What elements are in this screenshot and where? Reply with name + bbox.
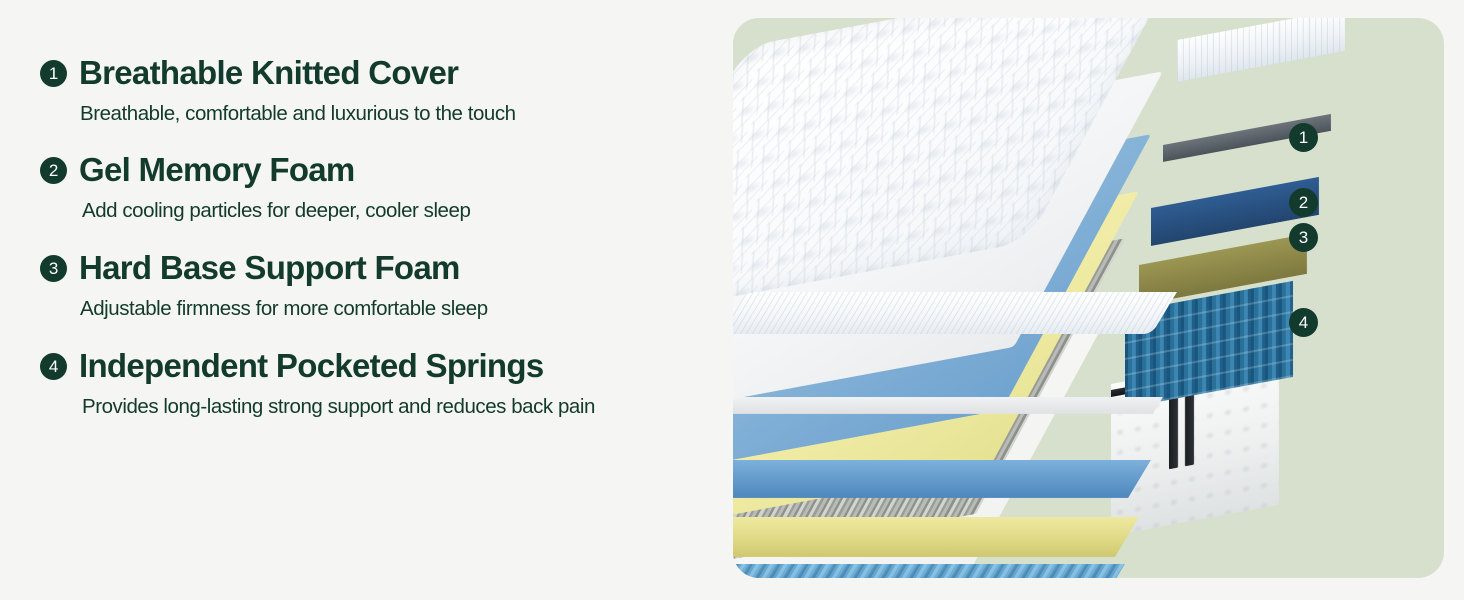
feature-number-badge-1: 1 [40,60,67,87]
cover-top-face [733,18,1177,322]
feature-heading-row: 2 Gel Memory Foam [40,149,720,191]
springs-front-face [733,564,1125,578]
feature-heading-row: 4 Independent Pocketed Springs [40,345,720,387]
feature-heading-row: 1 Breathable Knitted Cover [40,52,720,94]
features-column: 1 Breathable Knitted Cover Breathable, c… [0,0,720,600]
feature-title-3: Hard Base Support Foam [79,249,460,287]
feature-title-2: Gel Memory Foam [79,151,355,189]
feature-description-2: Add cooling particles for deeper, cooler… [82,198,720,224]
callout-badge-3: 3 [1289,223,1318,252]
cover-front-face [733,292,1177,334]
mattress-image-panel: 1 2 3 4 [733,18,1444,578]
callout-badge-4: 4 [1289,308,1318,337]
feature-title-1: Breathable Knitted Cover [79,54,458,92]
base-handle-strap [1169,394,1178,470]
feature-item-hard-base-support-foam: 3 Hard Base Support Foam Adjustable firm… [40,247,720,322]
base-handle-strap [1185,391,1194,467]
feature-item-knitted-cover: 1 Breathable Knitted Cover Breathable, c… [40,52,720,127]
mattress-layers-infographic: 1 Breathable Knitted Cover Breathable, c… [0,0,1464,600]
feature-item-gel-memory-foam: 2 Gel Memory Foam Add cooling particles … [40,149,720,224]
feature-number-badge-2: 2 [40,157,67,184]
gel-foam-front-face [733,460,1151,498]
callout-badge-2: 2 [1289,188,1318,217]
feature-description-3: Adjustable firmness for more comfortable… [80,296,720,322]
feature-heading-row: 3 Hard Base Support Foam [40,247,720,289]
support-foam-front-face [733,517,1139,557]
callout-badge-1: 1 [1289,123,1318,152]
mattress-layer-knitted-cover [747,46,1177,294]
feature-description-4: Provides long-lasting strong support and… [82,394,720,420]
exploded-mattress-illustration: 1 2 3 4 [733,18,1444,578]
grey-foam-front-face [733,397,1163,414]
feature-item-pocketed-springs: 4 Independent Pocketed Springs Provides … [40,345,720,420]
feature-number-badge-3: 3 [40,255,67,282]
feature-title-4: Independent Pocketed Springs [79,347,543,385]
cover-side-face [1177,18,1345,82]
feature-description-1: Breathable, comfortable and luxurious to… [80,101,720,127]
feature-number-badge-4: 4 [40,353,67,380]
